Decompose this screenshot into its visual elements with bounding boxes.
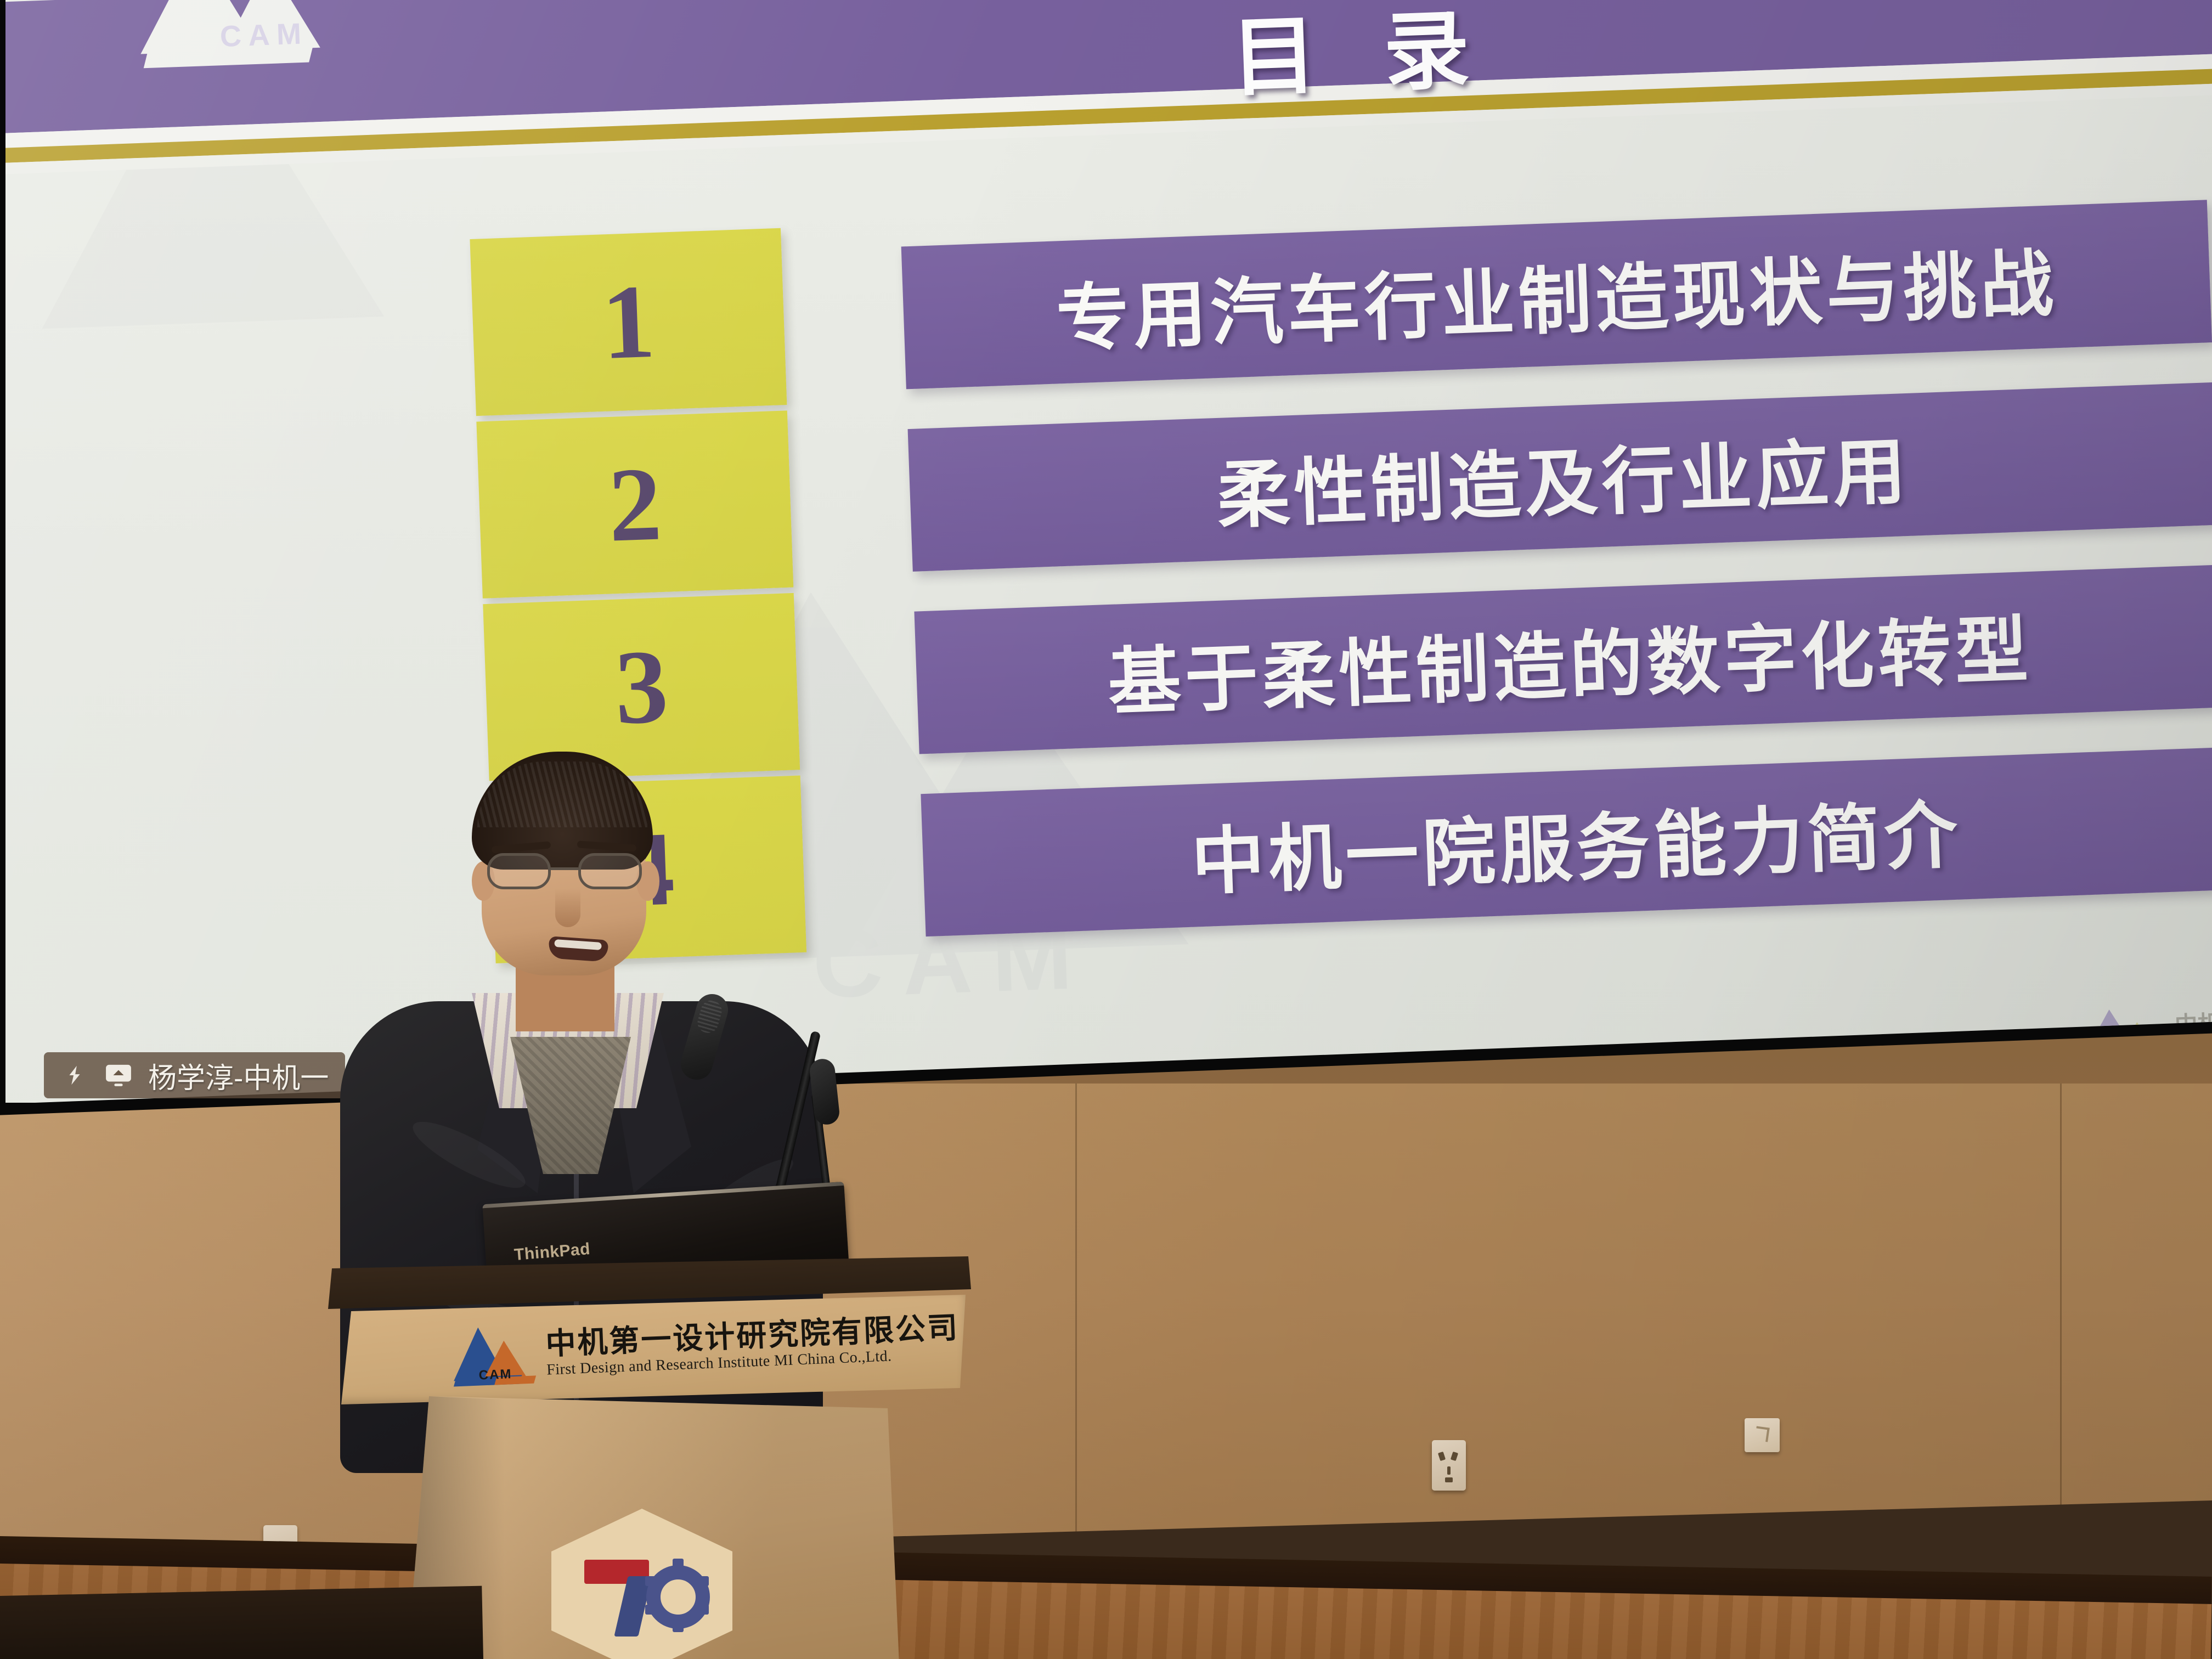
- cam-logo: CAM: [131, 0, 376, 86]
- agenda-number-box: 1: [470, 228, 787, 416]
- agenda-item-text: 中机一院服务能力简介: [1189, 775, 1963, 909]
- agenda-number-box: 2: [476, 410, 793, 598]
- wall-switch-plate: [1745, 1418, 1780, 1452]
- presenter-name-overlay: 杨学淳-中机一: [44, 1052, 345, 1098]
- anniversary-number-70: [582, 1550, 702, 1632]
- lectern-logo-wordmark: CAM: [478, 1367, 512, 1383]
- power-outlet: [1432, 1440, 1466, 1491]
- agenda-number: 3: [613, 633, 670, 741]
- lectern-logo-mark: CAM: [452, 1324, 535, 1387]
- agenda-item-bar: 柔性制造及行业应用: [908, 382, 2212, 572]
- agenda-number: 1: [600, 268, 657, 376]
- presenter-nose: [555, 889, 580, 927]
- presentation-photo-scene: CAM CAM CAM 目 录 1: [0, 0, 2212, 1659]
- foreground-desk-edge: [0, 1586, 484, 1659]
- presenter-name-label: 杨学淳-中机一: [148, 1055, 329, 1096]
- share-icon: [60, 1061, 89, 1090]
- agenda-item-text: 柔性制造及行业应用: [1215, 412, 1911, 542]
- cam-wordmark: CAM: [219, 16, 309, 54]
- agenda-item-bar: 专用汽车行业制造现状与挑战: [901, 200, 2212, 389]
- screen-share-icon: [104, 1061, 133, 1090]
- presenter-glasses: [484, 853, 648, 894]
- agenda-item-text: 专用汽车行业制造现状与挑战: [1054, 224, 2059, 365]
- agenda-number: 2: [607, 451, 663, 558]
- agenda-item-text: 基于柔性制造的数字化转型: [1106, 590, 2034, 729]
